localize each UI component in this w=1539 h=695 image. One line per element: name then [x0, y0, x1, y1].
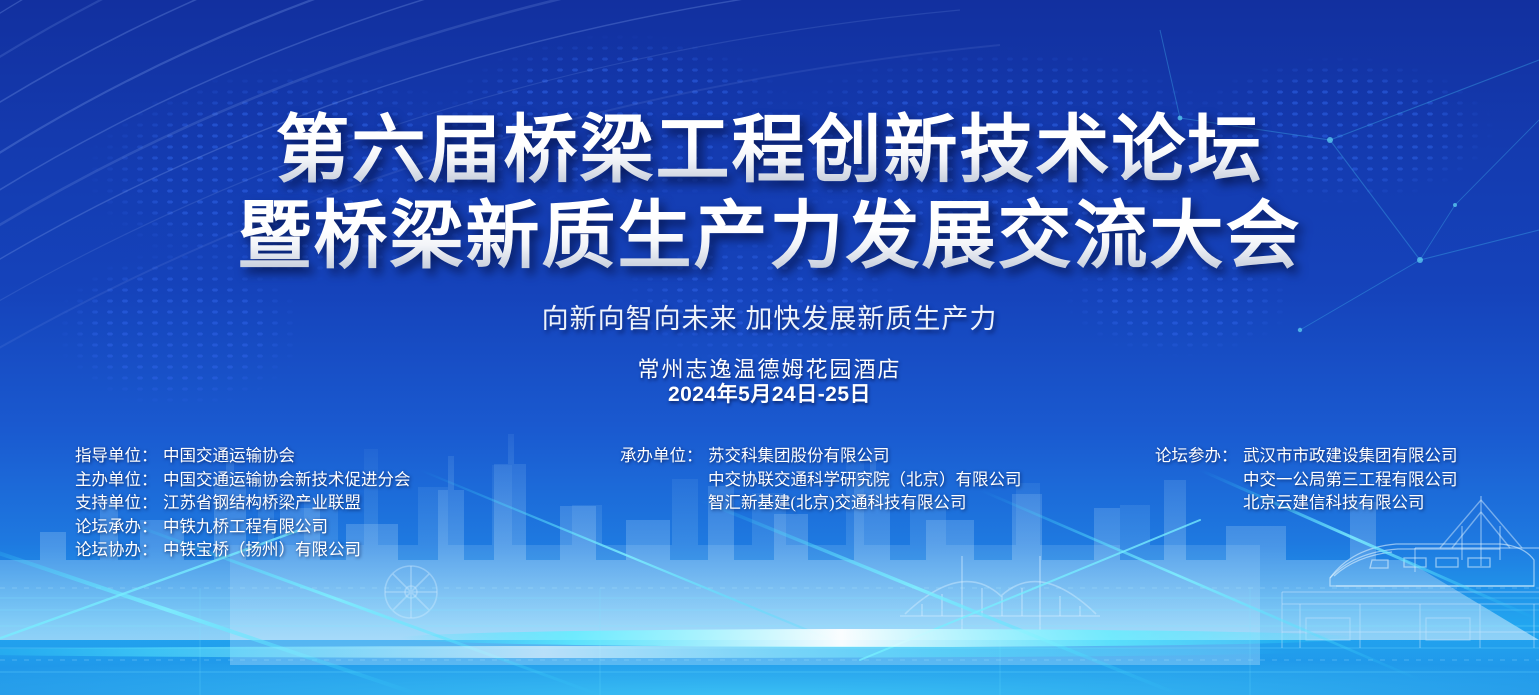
organizer-value: 中交一公局第三工程有限公司	[1243, 468, 1458, 492]
organizer-value: 武汉市市政建设集团有限公司	[1243, 444, 1458, 468]
organizer-row: 论坛协办： 中铁宝桥（扬州）有限公司	[75, 538, 411, 562]
subtitle: 向新向智向未来 加快发展新质生产力	[0, 297, 1539, 336]
organizer-label: 论坛参办：	[1155, 444, 1243, 468]
banner-content: 第六届桥梁工程创新技术论坛 暨桥梁新质生产力发展交流大会 向新向智向未来 加快发…	[0, 0, 1539, 695]
organizer-row: 指导单位： 中交协联交通科学研究院（北京）有限公司	[620, 468, 1022, 492]
organizer-row: 承办单位： 苏交科集团股份有限公司	[620, 444, 1022, 468]
organizer-value: 中国交通运输协会新技术促进分会	[163, 468, 411, 492]
organizer-row: 指导单位： 中国交通运输协会	[75, 444, 411, 468]
organizer-blocks: 指导单位： 中国交通运输协会 主办单位： 中国交通运输协会新技术促进分会 支持单…	[0, 444, 1539, 564]
organizer-label: 论坛承办：	[75, 515, 163, 539]
organizer-label: 论坛协办：	[75, 538, 163, 562]
organizer-value: 江苏省钢结构桥梁产业联盟	[163, 491, 361, 515]
organizer-label: 承办单位：	[620, 444, 708, 468]
organizer-row: 主办单位： 中国交通运输协会新技术促进分会	[75, 468, 411, 492]
organizer-row: 支持单位： 江苏省钢结构桥梁产业联盟	[75, 491, 411, 515]
organizer-label: 主办单位：	[75, 468, 163, 492]
organizer-value: 中铁九桥工程有限公司	[163, 515, 328, 539]
organizer-value: 北京云建信科技有限公司	[1243, 491, 1425, 515]
organizer-column-left: 指导单位： 中国交通运输协会 主办单位： 中国交通运输协会新技术促进分会 支持单…	[75, 444, 411, 562]
organizer-row: 论坛参办： 中交一公局第三工程有限公司	[1155, 468, 1458, 492]
organizer-row: 指导单位： 智汇新基建(北京)交通科技有限公司	[620, 491, 1022, 515]
organizer-row: 论坛参办： 北京云建信科技有限公司	[1155, 491, 1458, 515]
organizer-row: 论坛参办： 武汉市市政建设集团有限公司	[1155, 444, 1458, 468]
organizer-label: 支持单位：	[75, 491, 163, 515]
title-line-1: 第六届桥梁工程创新技术论坛	[0, 108, 1539, 194]
organizer-value: 苏交科集团股份有限公司	[708, 444, 890, 468]
date-text: 2024年5月24日-25日	[0, 378, 1539, 408]
organizer-value: 中国交通运输协会	[163, 444, 295, 468]
organizer-value: 中交协联交通科学研究院（北京）有限公司	[708, 468, 1022, 492]
organizer-label: 指导单位：	[75, 444, 163, 468]
organizer-column-middle: 承办单位： 苏交科集团股份有限公司 指导单位： 中交协联交通科学研究院（北京）有…	[620, 444, 1022, 515]
organizer-column-right: 论坛参办： 武汉市市政建设集团有限公司 论坛参办： 中交一公局第三工程有限公司 …	[1155, 444, 1458, 515]
main-title: 第六届桥梁工程创新技术论坛 暨桥梁新质生产力发展交流大会	[0, 108, 1539, 280]
title-line-2: 暨桥梁新质生产力发展交流大会	[0, 194, 1539, 280]
organizer-row: 论坛承办： 中铁九桥工程有限公司	[75, 515, 411, 539]
organizer-value: 中铁宝桥（扬州）有限公司	[163, 538, 361, 562]
organizer-value: 智汇新基建(北京)交通科技有限公司	[708, 491, 967, 515]
conference-banner: 第六届桥梁工程创新技术论坛 暨桥梁新质生产力发展交流大会 向新向智向未来 加快发…	[0, 0, 1539, 695]
